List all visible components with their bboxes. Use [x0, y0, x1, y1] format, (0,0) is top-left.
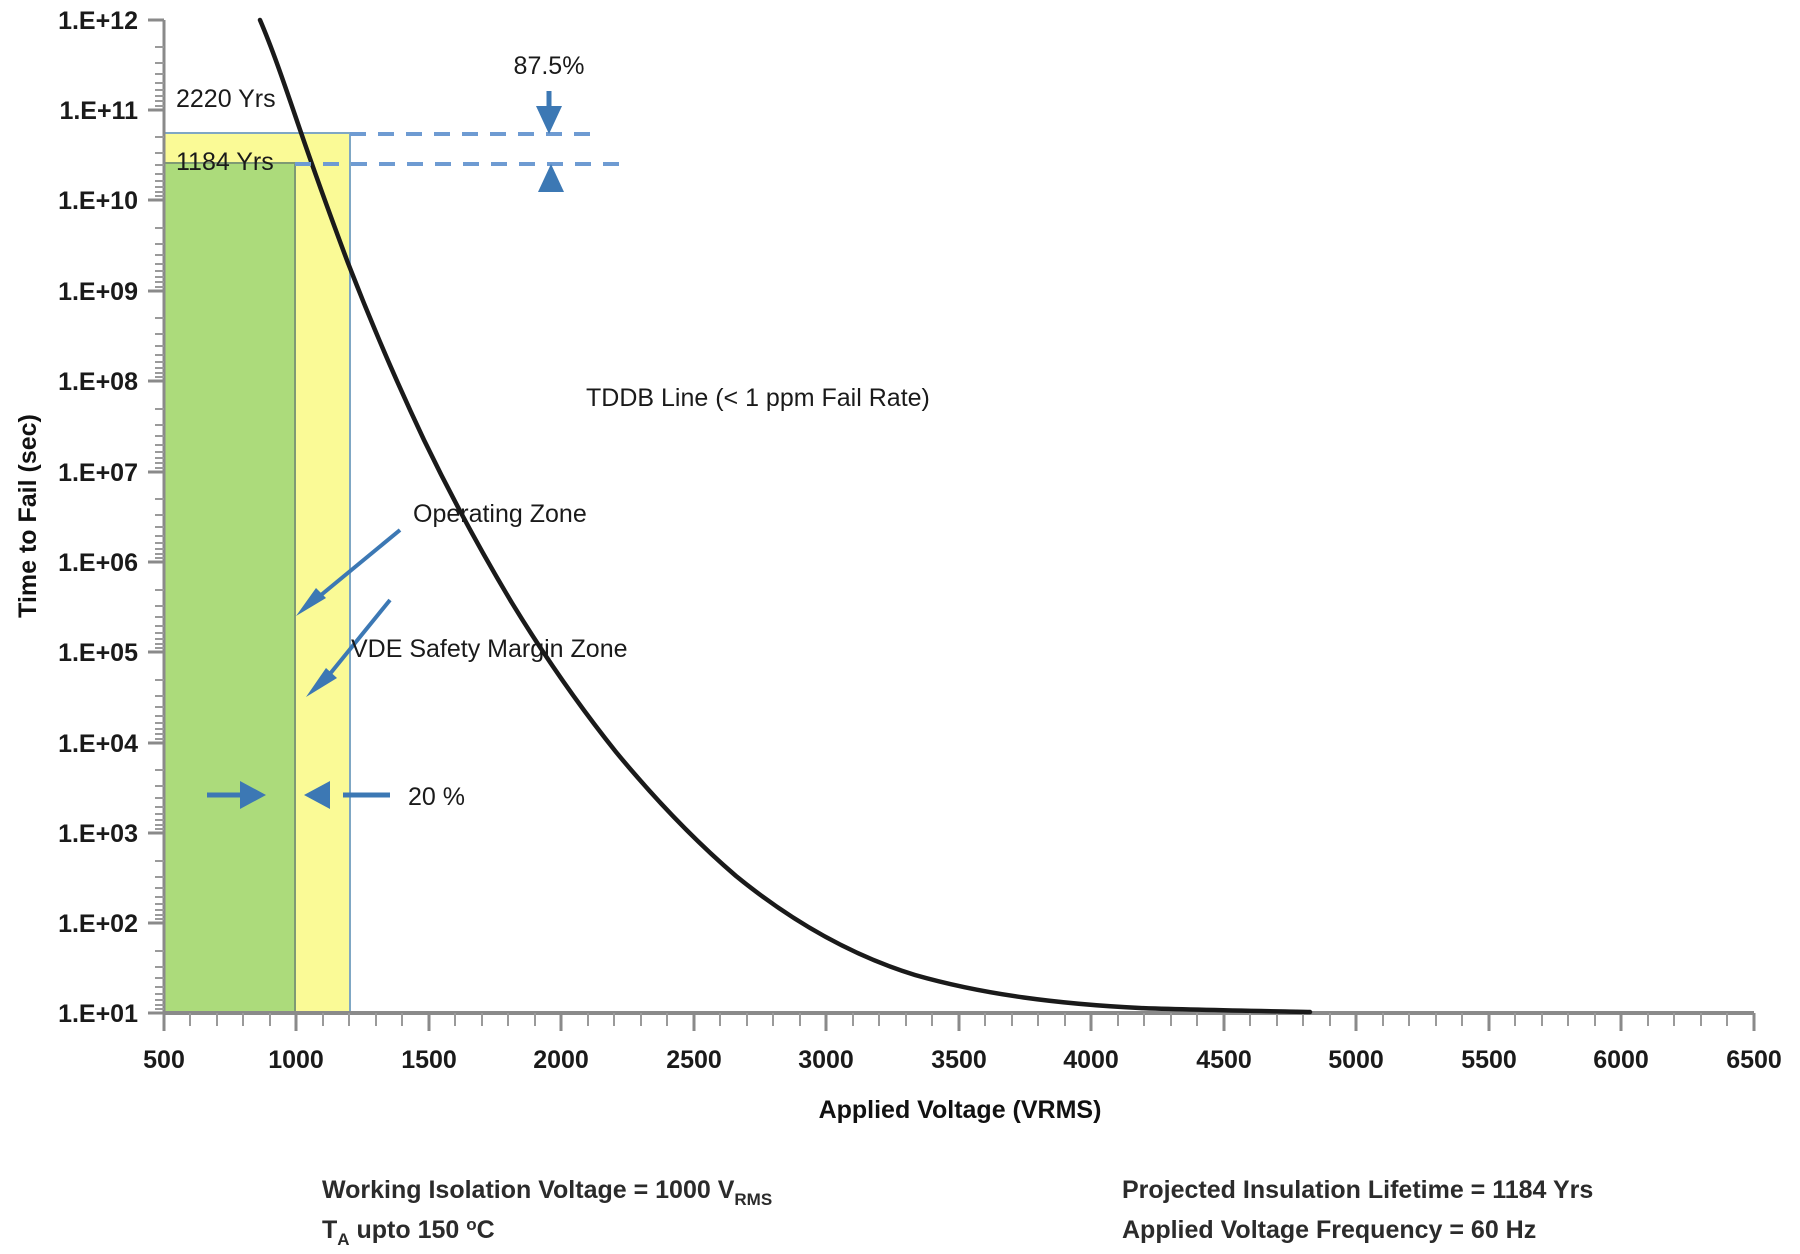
pct-875-label: 87.5%: [514, 52, 585, 80]
pct-arrow-up-head: [538, 164, 564, 192]
x-tick-label: 4000: [1063, 1046, 1119, 1074]
y-tick-label: 1.E+12: [58, 7, 138, 35]
pct-875-arrows: [536, 91, 564, 192]
margin-20pct-label: 20 %: [408, 783, 465, 811]
x-tick-label: 2500: [666, 1046, 722, 1074]
footnote-left: Working Isolation Voltage = 1000 VRMS TA…: [322, 1176, 772, 1249]
footnote-right-line1: Projected Insulation Lifetime = 1184 Yrs: [1122, 1176, 1593, 1204]
footnote-left-line1: Working Isolation Voltage = 1000 VRMS: [322, 1176, 772, 1209]
y-tick-label: 1.E+06: [58, 549, 138, 577]
chart-canvas: 1.E+12 1.E+11 1.E+10 1.E+09 1.E+08 1.E+0…: [0, 0, 1800, 1254]
footnote-left-line1-sub: RMS: [734, 1190, 772, 1209]
x-tick-label: 5000: [1328, 1046, 1384, 1074]
x-tick-labels: 500 1000 1500 2000 2500 3000 3500 4000 4…: [143, 1046, 1782, 1074]
footnote-right: Projected Insulation Lifetime = 1184 Yrs…: [1122, 1176, 1593, 1244]
footnote-left-line2: TA upto 150 oC: [322, 1215, 495, 1249]
footnote-left-line1-text: Working Isolation Voltage = 1000 V: [322, 1176, 735, 1204]
footnote-left-line2-sub: A: [337, 1230, 349, 1249]
y-tick-label: 1.E+02: [58, 910, 138, 938]
x-axis-title: Applied Voltage (VRMS): [819, 1096, 1102, 1124]
y-tick-label: 1.E+07: [58, 459, 138, 487]
x-tick-label: 2000: [533, 1046, 589, 1074]
y-tick-label: 1.E+05: [58, 639, 138, 667]
footnote-left-line2-c: C: [477, 1216, 495, 1244]
footnote-left-line2-b: upto 150: [350, 1216, 467, 1244]
footnote-right-line2: Applied Voltage Frequency = 60 Hz: [1122, 1216, 1536, 1244]
x-tick-label: 3000: [798, 1046, 854, 1074]
zone-shapes: [164, 133, 350, 1013]
y-tick-label: 1.E+11: [59, 97, 138, 125]
y-tick-label: 1.E+09: [58, 278, 138, 306]
y-tick-label: 1.E+04: [58, 730, 138, 758]
tddb-curve-tail: [1180, 940, 1420, 1011]
y-tick-label: 1.E+01: [58, 1000, 138, 1028]
x-axis: [164, 1013, 1754, 1031]
y-tick-label: 1.E+10: [58, 187, 138, 215]
x-tick-label: 1000: [268, 1046, 324, 1074]
y-tick-labels: 1.E+12 1.E+11 1.E+10 1.E+09 1.E+08 1.E+0…: [58, 7, 138, 1028]
x-tick-label: 6000: [1593, 1046, 1649, 1074]
operating-zone-rect: [164, 163, 295, 1013]
tddb-line-label: TDDB Line (< 1 ppm Fail Rate): [586, 384, 930, 412]
x-tick-label: 3500: [931, 1046, 987, 1074]
x-tick-label: 5500: [1461, 1046, 1517, 1074]
footnote-left-line2-sup: o: [466, 1215, 476, 1234]
x-tick-label: 4500: [1196, 1046, 1252, 1074]
tddb-lifetime-chart: 1.E+12 1.E+11 1.E+10 1.E+09 1.E+08 1.E+0…: [0, 0, 1800, 1254]
y-major-ticks: [148, 20, 164, 1013]
x-tick-label: 6500: [1726, 1046, 1782, 1074]
y-tick-label: 1.E+03: [58, 820, 138, 848]
x-tick-label: 1500: [401, 1046, 457, 1074]
yrs-1184-label: 1184 Yrs: [176, 148, 274, 176]
y-axis: [148, 20, 164, 1013]
pct-arrow-down-head: [536, 106, 562, 134]
x-tick-label: 500: [143, 1046, 185, 1074]
y-tick-label: 1.E+08: [58, 368, 138, 396]
footnote-left-line2-a: T: [322, 1216, 337, 1244]
operating-zone-label: Operating Zone: [413, 500, 587, 528]
yrs-2220-label: 2220 Yrs: [176, 85, 276, 113]
y-axis-title: Time to Fail (sec): [14, 414, 42, 618]
vde-zone-label: VDE Safety Margin Zone: [351, 635, 628, 663]
